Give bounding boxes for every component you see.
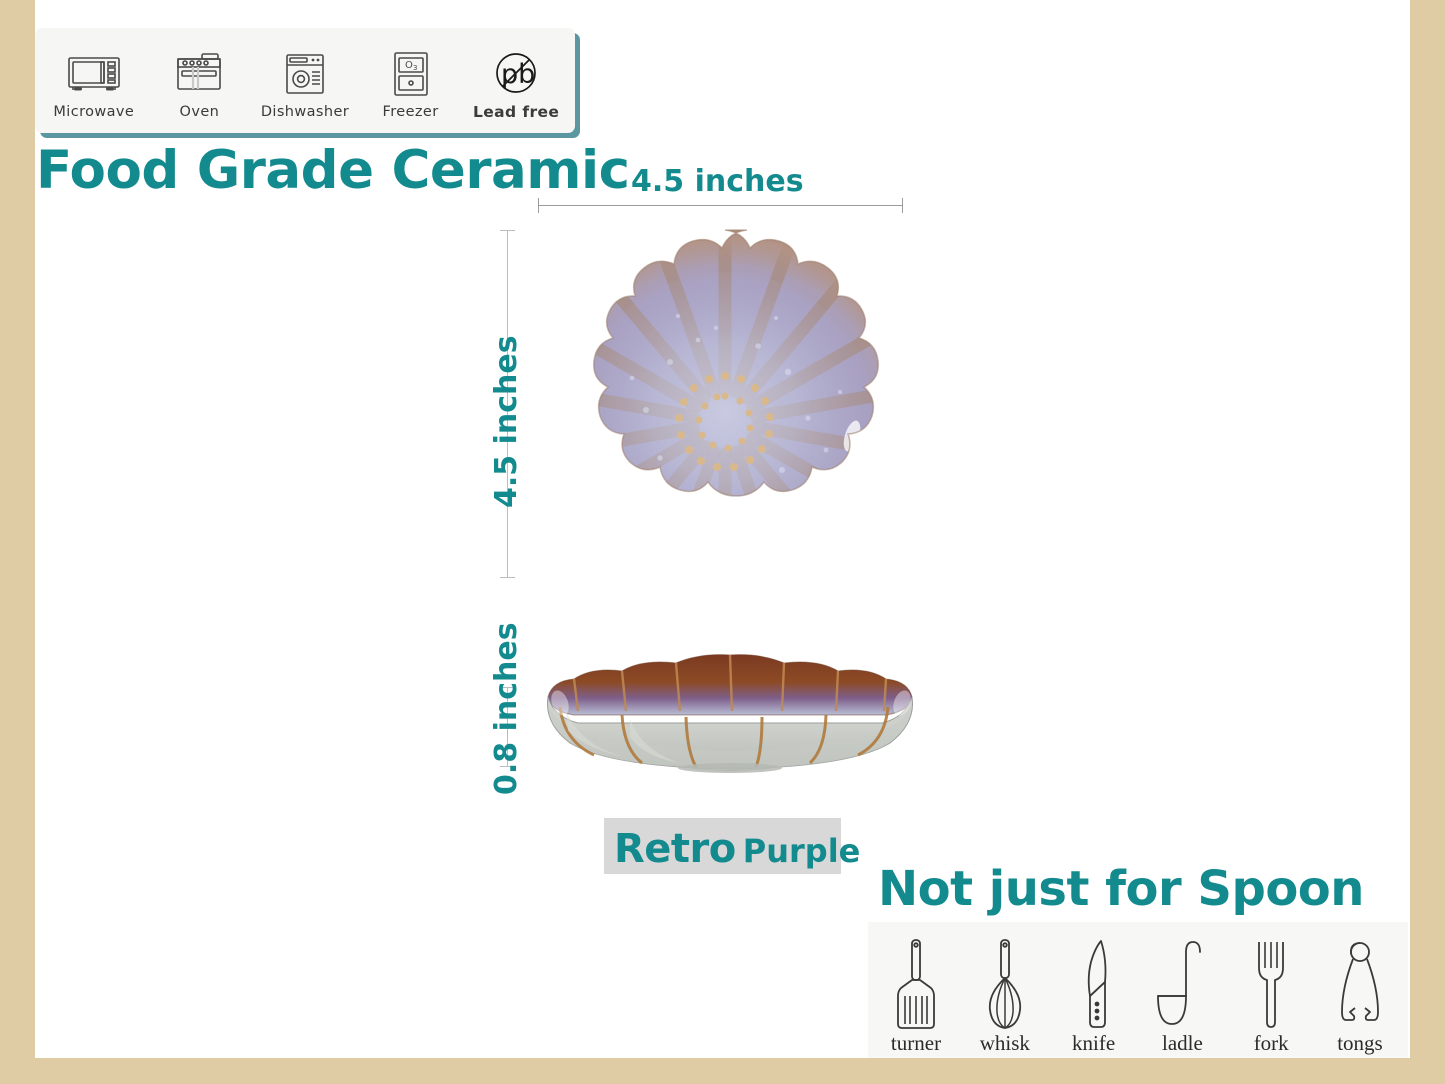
utensil-ladle: ladle	[1138, 936, 1226, 1054]
badge-label: Microwave	[53, 104, 134, 120]
dimension-width-line	[538, 205, 903, 206]
svg-text:O: O	[405, 60, 413, 71]
utensil-label: fork	[1254, 1033, 1289, 1054]
svg-text:3: 3	[413, 64, 417, 72]
utensil-whisk: whisk	[961, 936, 1049, 1054]
utensil-label: whisk	[980, 1033, 1030, 1054]
svg-text:pb: pb	[501, 59, 535, 90]
oven-icon	[174, 48, 224, 100]
badge-label: Freezer	[383, 104, 439, 120]
tongs-icon	[1336, 936, 1384, 1032]
utensil-compatibility-strip: turner whisk	[868, 922, 1408, 1058]
utensil-label: ladle	[1162, 1033, 1203, 1054]
microwave-icon	[67, 48, 121, 100]
product-image-side-view	[530, 645, 930, 775]
utensil-turner: turner	[872, 936, 960, 1054]
lead-free-icon: pb	[491, 47, 541, 99]
badge-lead-free: pb Lead free	[466, 41, 566, 121]
knife-icon	[1071, 936, 1117, 1032]
badge-dishwasher: Dishwasher	[255, 42, 355, 120]
utensil-label: tongs	[1337, 1033, 1383, 1054]
badge-freezer: O 3 Freezer	[361, 42, 461, 120]
page-title-food-grade: Food Grade Ceramic	[36, 140, 630, 201]
whisk-icon	[982, 936, 1028, 1032]
dimension-width-label: 4.5 inches	[631, 164, 804, 199]
section-title-not-just-spoon: Not just for Spoon	[878, 861, 1364, 917]
dishwasher-icon	[283, 48, 327, 100]
ladle-icon	[1156, 936, 1208, 1032]
badge-label: Lead free	[473, 103, 559, 121]
utensil-label: knife	[1072, 1033, 1115, 1054]
infographic-canvas: Microwave Ov	[0, 0, 1445, 1084]
freezer-icon: O 3	[392, 48, 430, 100]
badge-label: Dishwasher	[261, 104, 349, 120]
utensil-knife: knife	[1050, 936, 1138, 1054]
product-image-top-view	[520, 222, 930, 622]
dimension-height-label: 4.5 inches	[489, 335, 524, 508]
dimension-depth-label: 0.8 inches	[489, 622, 524, 795]
utensil-tongs: tongs	[1316, 936, 1404, 1054]
color-name: RetroPurple	[614, 826, 860, 872]
fork-icon	[1251, 936, 1291, 1032]
color-name-word2: Purple	[743, 832, 861, 870]
badge-oven: Oven	[149, 42, 249, 120]
turner-icon	[893, 936, 939, 1032]
badge-label: Oven	[180, 104, 220, 120]
badge-microwave: Microwave	[44, 42, 144, 120]
color-name-word1: Retro	[614, 826, 736, 872]
utensil-label: turner	[891, 1033, 941, 1054]
feature-badge-bar: Microwave Ov	[35, 28, 575, 133]
utensil-fork: fork	[1227, 936, 1315, 1054]
